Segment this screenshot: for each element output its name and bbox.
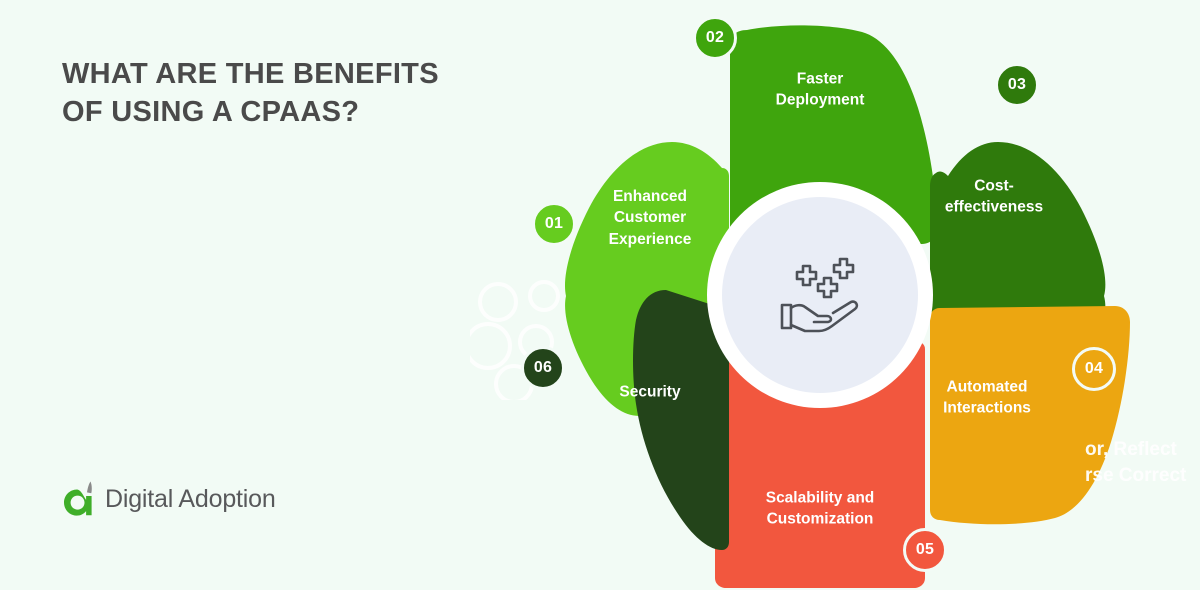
petal-04[interactable] bbox=[930, 306, 1130, 524]
left-column: WHAT ARE THE BENEFITS OF USING A CPAAS? … bbox=[0, 0, 500, 583]
digital-adoption-a-mark-icon bbox=[62, 480, 96, 518]
petal-badge-05[interactable]: 05 bbox=[903, 528, 947, 572]
infographic-root: WHAT ARE THE BENEFITS OF USING A CPAAS? … bbox=[0, 0, 1200, 583]
page-title: WHAT ARE THE BENEFITS OF USING A CPAAS? bbox=[62, 56, 462, 131]
wheel-center-disc bbox=[722, 197, 918, 393]
brand-logo: Digital Adoption bbox=[62, 480, 276, 518]
petal-badge-01[interactable]: 01 bbox=[532, 202, 576, 246]
benefits-wheel: Enhanced Customer Experience Faster Depl… bbox=[470, 0, 1200, 590]
hand-with-sparkles-icon bbox=[775, 256, 865, 334]
petal-badge-03[interactable]: 03 bbox=[995, 63, 1039, 107]
petal-badge-06[interactable]: 06 bbox=[521, 346, 565, 390]
wheel-center-hub bbox=[707, 182, 933, 408]
petal-badge-04[interactable]: 04 bbox=[1072, 347, 1116, 391]
petal-badge-02[interactable]: 02 bbox=[693, 16, 737, 60]
logo-text: Digital Adoption bbox=[105, 487, 276, 512]
